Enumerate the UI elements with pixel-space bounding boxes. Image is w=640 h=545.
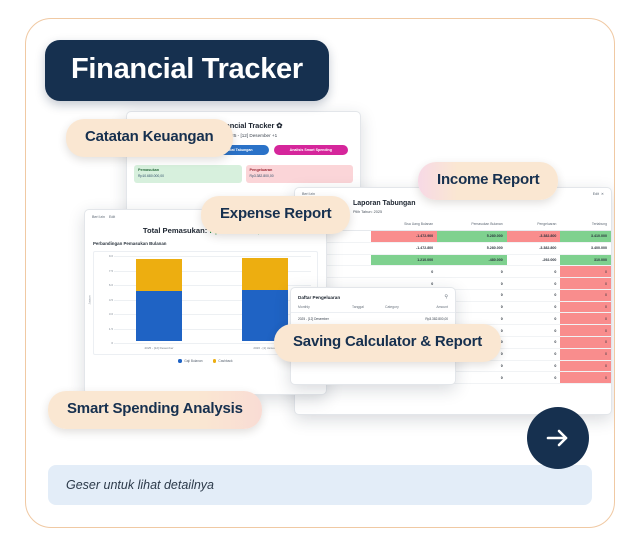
cell-pengeluaran: 0 xyxy=(507,278,561,290)
chart-y-tick-label: 1.5 xyxy=(100,327,113,331)
swipe-hint-bar: Geser untuk lihat detailnya xyxy=(48,465,592,505)
chart-y-axis-title: Jutaan xyxy=(88,295,92,304)
tag-label: Income Report xyxy=(437,171,539,188)
cell-tertabung: 0 xyxy=(560,348,611,360)
cell-tertabung: 0 xyxy=(560,372,611,384)
cell-pengeluaran: -3.382.800 xyxy=(507,242,561,254)
tile-pengeluaran[interactable]: Pengeluaran Rp3.382.800,00 xyxy=(246,165,354,183)
modal-col-tanggal: Tanggal xyxy=(352,305,385,309)
cell-pengeluaran: 0 xyxy=(507,372,561,384)
cell-tertabung: 0 xyxy=(560,337,611,349)
table-row[interactable]: Maret0000 xyxy=(295,266,611,278)
cell-tertabung: 0 xyxy=(560,313,611,325)
chart-bar xyxy=(136,259,182,341)
chart-y-tick-label: 9.0 xyxy=(100,254,113,258)
tag-income-report[interactable]: Income Report xyxy=(418,162,558,200)
modal-cell-amount: Rp3.382.800,00 xyxy=(418,317,448,321)
chart-y-tick-label: 6.0 xyxy=(100,283,113,287)
table-edit-label: Edit xyxy=(593,192,599,196)
chart-gridline xyxy=(114,256,311,257)
tile-pemasukan-value: Rp10.680.000,00 xyxy=(138,174,238,178)
legend-color-dot xyxy=(213,359,216,362)
tag-label: Saving Calculator & Report xyxy=(293,333,482,350)
page-title: Financial Tracker xyxy=(71,53,303,85)
legend-label: Cashback xyxy=(218,359,232,363)
tag-label: Smart Spending Analysis xyxy=(67,400,243,417)
tile-pengeluaran-value: Rp3.382.800,00 xyxy=(250,174,350,178)
cell-pengeluaran: 0 xyxy=(507,289,561,301)
col-tertabung: Tertabung xyxy=(560,218,611,231)
cell-pengeluaran: -292.000 xyxy=(507,254,561,266)
modal-col-monthly: Monthly xyxy=(298,305,352,309)
legend-label: Gaji Bulanan xyxy=(184,359,202,363)
cell-tertabung: 3.410.000 xyxy=(560,231,611,243)
chart-y-tick-label: 7.5 xyxy=(100,269,113,273)
cell-pengeluaran: 0 xyxy=(507,266,561,278)
cell-sisa-uang: 0 xyxy=(371,266,437,278)
cell-pemasukan: 0 xyxy=(437,266,507,278)
chart-bar-segment xyxy=(136,259,182,291)
cell-pengeluaran: 0 xyxy=(507,360,561,372)
next-button[interactable] xyxy=(527,407,589,469)
analisis-smart-spending-button[interactable]: Analisis Smart Spending xyxy=(274,145,348,155)
total-pemasukan-label: Total Pemasukan: xyxy=(143,226,207,235)
chart-legend-item: Gaji Bulanan xyxy=(178,359,202,363)
tile-pemasukan-label: Pemasukan xyxy=(138,168,238,172)
cell-sisa-uang: -1.472.900 xyxy=(371,231,437,243)
table-topbar-right[interactable]: Edit ✕ xyxy=(593,192,604,196)
tag-smart-spending-analysis[interactable]: Smart Spending Analysis xyxy=(48,391,262,429)
chart-bar-segment xyxy=(242,258,288,290)
chart-x-tick-label: 2025 - [12] Desember xyxy=(119,346,199,350)
cell-tertabung: 0 xyxy=(560,289,611,301)
table-row[interactable]: Februari1.210.000-480.000-292.000310.000 xyxy=(295,254,611,266)
cell-tertabung: 310.000 xyxy=(560,254,611,266)
cell-pemasukan: 5.280.000 xyxy=(437,242,507,254)
cell-sisa-uang: -1.472.800 xyxy=(371,242,437,254)
close-icon[interactable]: ✕ xyxy=(600,192,604,196)
tag-label: Catatan Keuangan xyxy=(85,128,214,145)
cell-pengeluaran: -3.382.800 xyxy=(507,231,561,243)
modal-column-headers: Monthly Tanggal Category Amount xyxy=(291,305,455,313)
cell-pemasukan: 5.280.000 xyxy=(437,231,507,243)
cell-pengeluaran: 0 xyxy=(507,301,561,313)
modal-col-category: Category xyxy=(385,305,418,309)
cell-tertabung: 0 xyxy=(560,266,611,278)
tag-expense-report[interactable]: Expense Report xyxy=(201,196,350,234)
modal-col-amount: Amount xyxy=(418,305,448,309)
cell-tertabung: 3.400.000 xyxy=(560,242,611,254)
search-icon[interactable]: ⚲ xyxy=(444,294,448,300)
modal-cell-monthly: 2025 - [12] Desember xyxy=(298,317,352,321)
cell-tertabung: 0 xyxy=(560,301,611,313)
tile-pemasukan[interactable]: Pemasukan Rp10.680.000,00 xyxy=(134,165,242,183)
cell-tertabung: 0 xyxy=(560,360,611,372)
modal-header: Daftar Pengeluaran ⚲ xyxy=(291,288,455,305)
tile-pengeluaran-label: Pengeluaran xyxy=(250,168,350,172)
cell-tertabung: 0 xyxy=(560,278,611,290)
chart-bar-segment xyxy=(136,291,182,341)
cell-tertabung: 0 xyxy=(560,325,611,337)
arrow-right-icon xyxy=(541,421,575,455)
chart-topbar-label: Beri Izin xyxy=(92,215,105,219)
chart-y-tick-label: 0 xyxy=(100,341,113,345)
col-sisa-uang: Sisa Uang Bulanan xyxy=(371,218,437,231)
tag-catatan-keuangan[interactable]: Catatan Keuangan xyxy=(66,119,233,157)
cell-pengeluaran: 0 xyxy=(507,313,561,325)
cell-pengeluaran: 0 xyxy=(507,348,561,360)
cell-pemasukan: -480.000 xyxy=(437,254,507,266)
cell-pengeluaran: 0 xyxy=(507,325,561,337)
chart-y-tick-label: 3.0 xyxy=(100,312,113,316)
tag-saving-calculator-report[interactable]: Saving Calculator & Report xyxy=(274,324,501,362)
table-row[interactable]: -1.472.8005.280.000-3.382.8003.400.000 xyxy=(295,242,611,254)
cell-sisa-uang: 1.210.000 xyxy=(371,254,437,266)
summary-tiles: Pemasukan Rp10.680.000,00 Pengeluaran Rp… xyxy=(127,159,360,183)
col-pengeluaran: Pengeluaran xyxy=(507,218,561,231)
slide-card: ✿ Financial Tracker ✿ Bulan: 2025 - [12]… xyxy=(25,18,615,528)
table-row[interactable]: Desember-1.472.9005.280.000-3.382.8003.4… xyxy=(295,231,611,243)
swipe-hint-text: Geser untuk lihat detailnya xyxy=(66,478,214,492)
chart-y-tick-label: 4.5 xyxy=(100,298,113,302)
cell-pengeluaran: 0 xyxy=(507,337,561,349)
chart-topbar-menu[interactable]: Edit xyxy=(109,215,115,219)
modal-title: Daftar Pengeluaran xyxy=(298,295,340,300)
legend-color-dot xyxy=(178,359,181,362)
chart-legend-item: Cashback xyxy=(213,359,233,363)
col-pemasukan: Pemasukan Bulanan xyxy=(437,218,507,231)
chart-subtitle: Perbandingan Pemasukan Bulanan xyxy=(85,235,326,246)
tag-label: Expense Report xyxy=(220,205,331,222)
slide-title-badge: Financial Tracker xyxy=(45,40,329,101)
